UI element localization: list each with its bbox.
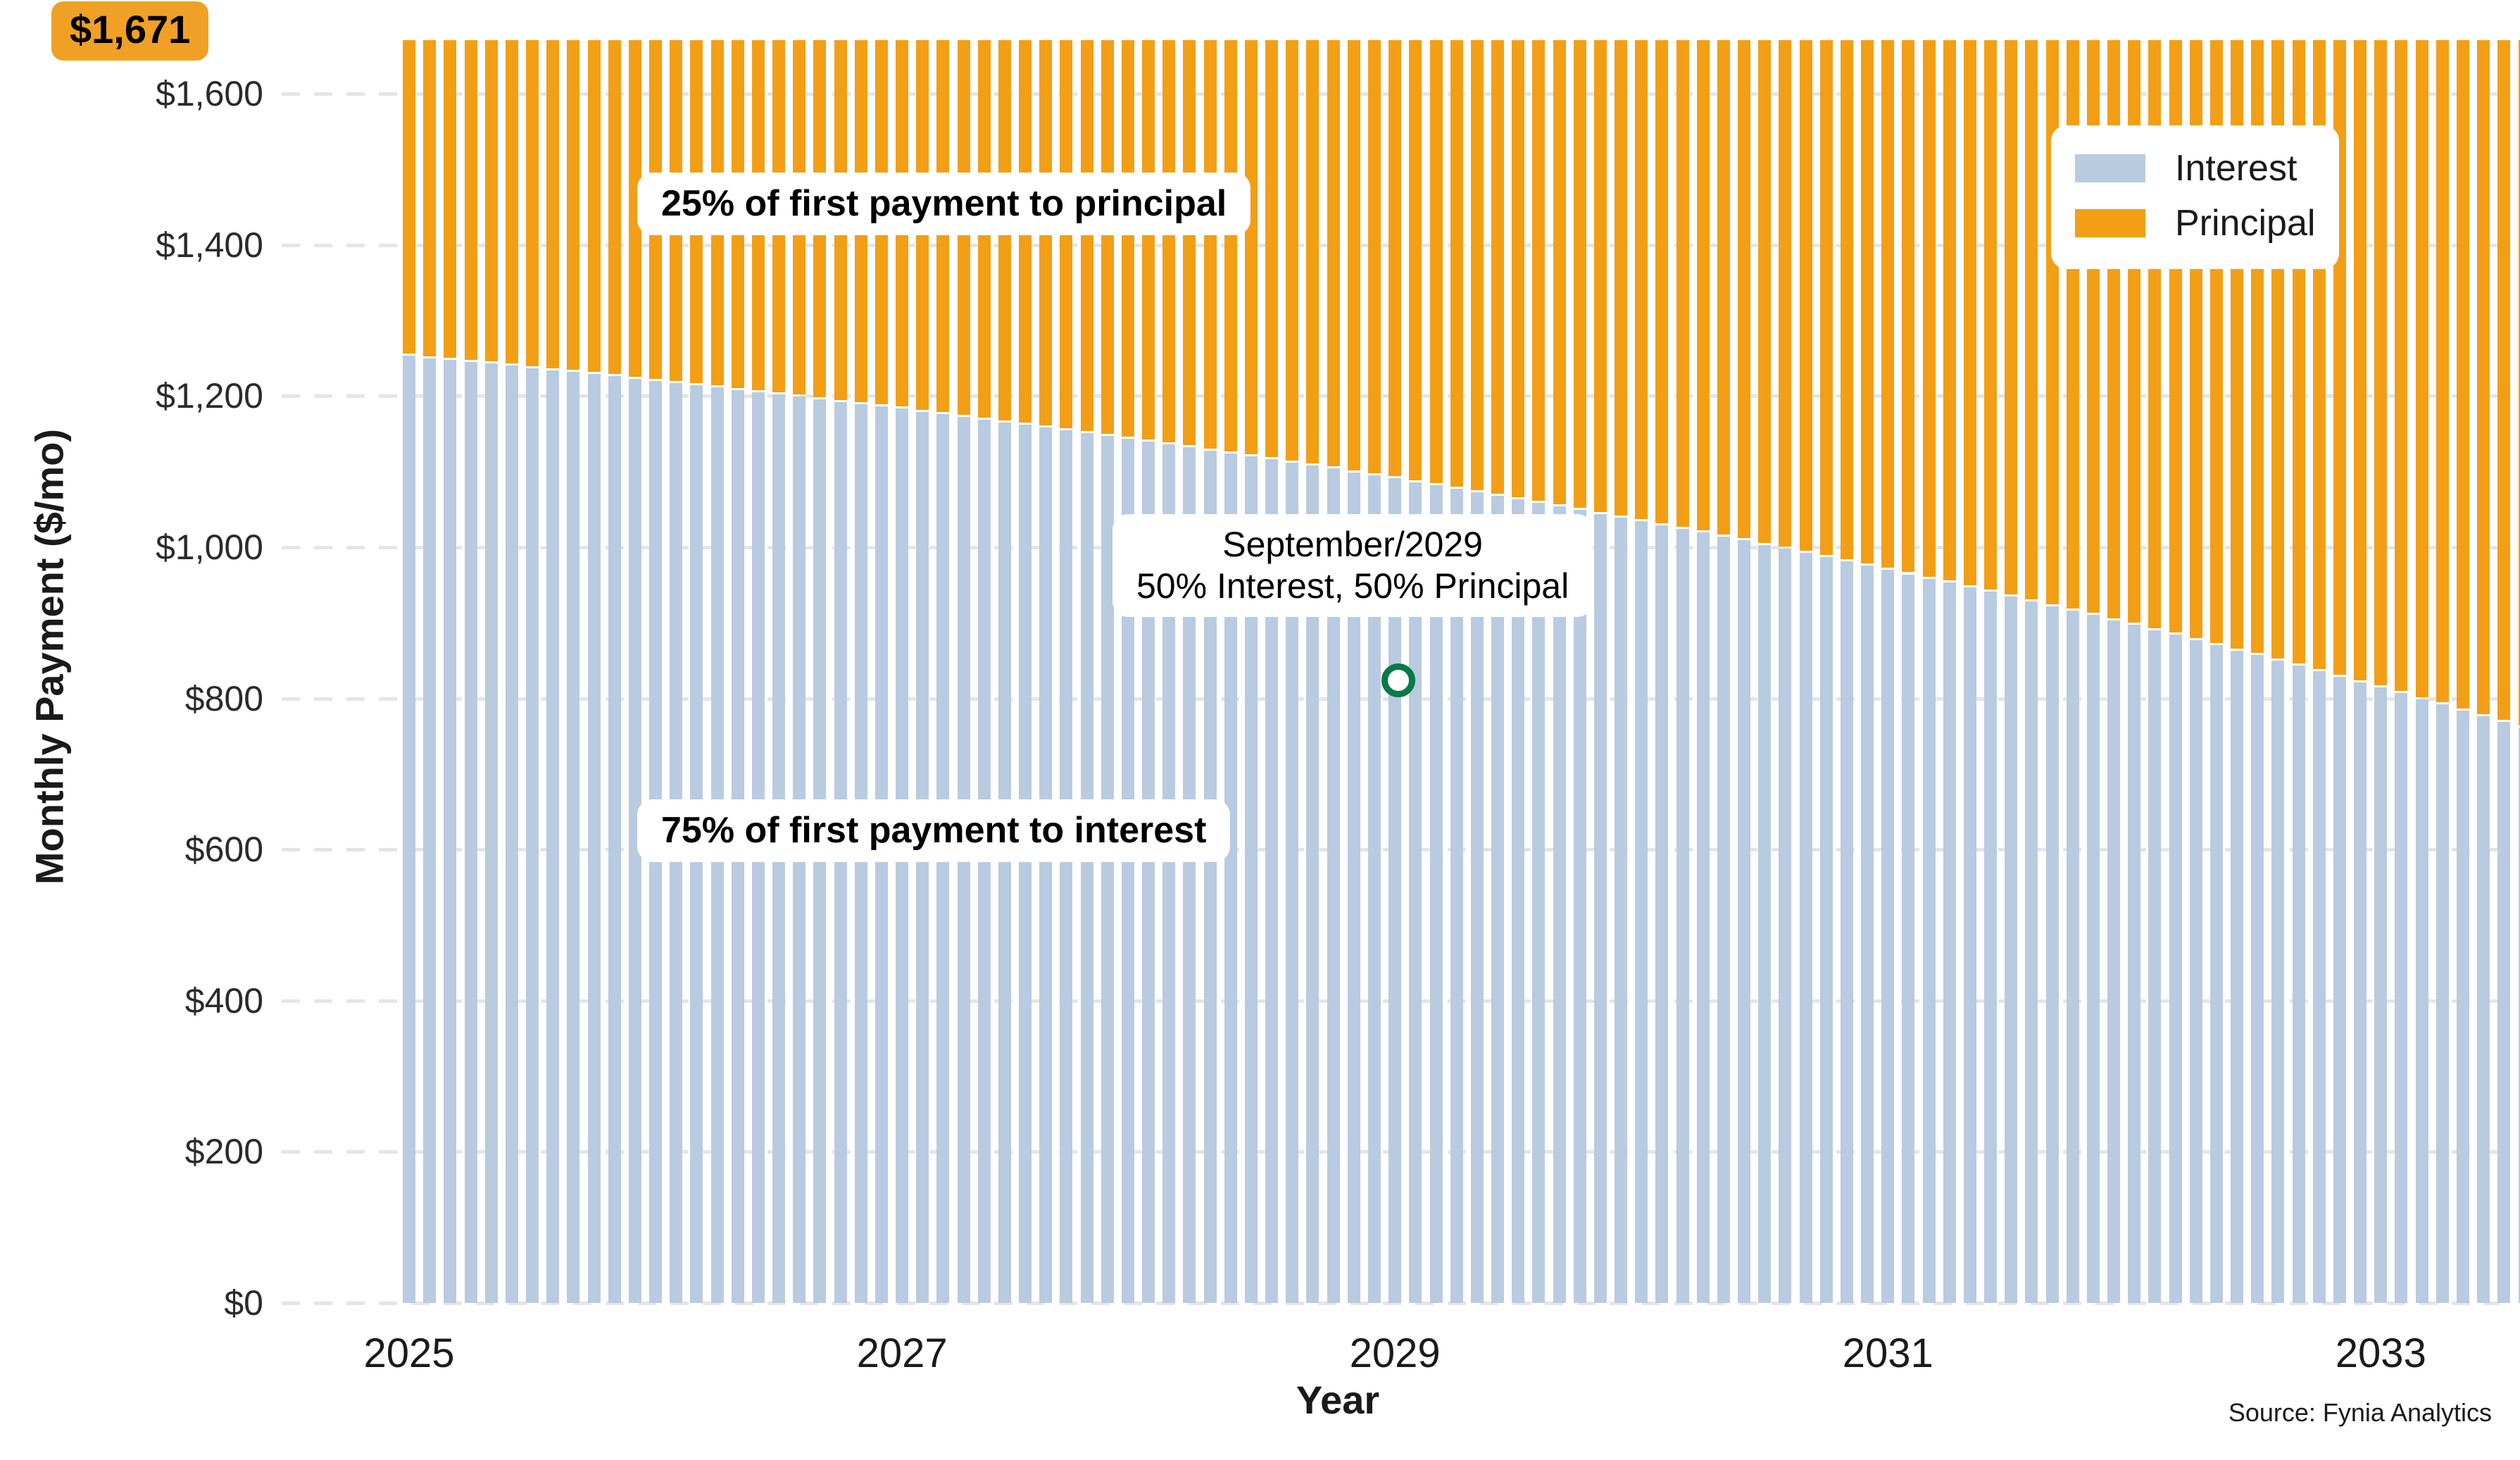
- bar-segment-interest: [1676, 529, 1689, 1303]
- bar-segment-principal: [588, 40, 601, 372]
- bar-segment-interest: [1861, 566, 1874, 1303]
- bar-segment-principal: [1512, 40, 1524, 497]
- bar-segment-interest: [2169, 635, 2182, 1303]
- bar-segment-interest: [2457, 711, 2469, 1303]
- bar-segment-principal: [608, 40, 621, 375]
- bar-segment-interest: [2087, 615, 2100, 1303]
- bar-segment-principal: [2025, 40, 2038, 599]
- bar-segment-principal: [1964, 40, 1976, 585]
- bar-segment-interest: [588, 374, 601, 1303]
- bar-segment-interest: [2190, 640, 2202, 1303]
- bar-segment-principal: [2436, 40, 2449, 702]
- legend-item[interactable]: Interest: [2075, 141, 2315, 196]
- x-tick-label: 2029: [1350, 1330, 1441, 1377]
- bar-segment-principal: [2416, 40, 2428, 697]
- bar-segment-interest: [423, 358, 436, 1303]
- bar-segment-principal: [1820, 40, 1833, 555]
- bar-segment-interest: [2271, 661, 2284, 1303]
- annotation-interest-share: 75% of first payment to interest: [637, 799, 1230, 862]
- legend-item[interactable]: Principal: [2075, 196, 2315, 251]
- chart-canvas: $0$200$400$600$800$1,000$1,200$1,400$1,6…: [0, 0, 2520, 1460]
- bar-segment-interest: [2477, 716, 2490, 1303]
- bar-segment-interest: [998, 423, 1011, 1303]
- bar-segment-principal: [1101, 40, 1114, 434]
- bar-segment-principal: [2477, 40, 2490, 714]
- bar-segment-principal: [1984, 40, 1997, 589]
- bar-segment-interest: [1758, 545, 1771, 1303]
- bar-segment-interest: [567, 372, 579, 1303]
- bar-segment-principal: [403, 40, 415, 354]
- bar-segment-interest: [2128, 625, 2140, 1303]
- bar-segment-principal: [1430, 40, 1443, 483]
- bar-segment-interest: [1574, 510, 1586, 1303]
- bar-segment-principal: [444, 40, 456, 358]
- bar-segment-interest: [1635, 521, 1648, 1303]
- bar-segment-principal: [1881, 40, 1894, 568]
- bar-segment-interest: [506, 366, 518, 1303]
- bar-segment-interest: [2333, 677, 2346, 1303]
- bar-segment-interest: [1881, 570, 1894, 1303]
- bar-segment-interest: [2107, 620, 2120, 1303]
- annotation-crossover-date: September/2029: [1136, 524, 1569, 566]
- bar-segment-principal: [1553, 40, 1566, 504]
- bar-segment-principal: [1491, 40, 1504, 494]
- bar-segment-principal: [1779, 40, 1791, 547]
- bar-segment-interest: [1039, 428, 1052, 1303]
- bar-segment-principal: [485, 40, 498, 361]
- bar-segment-interest: [2374, 687, 2387, 1303]
- bar-segment-principal: [1841, 40, 1853, 559]
- bar-segment-interest: [1943, 582, 1956, 1303]
- bar-segment-principal: [1245, 40, 1258, 454]
- bar-segment-principal: [1081, 40, 1093, 431]
- bar-segment-interest: [1697, 532, 1710, 1303]
- bar-segment-principal: [1122, 40, 1134, 437]
- bar-segment-interest: [1820, 557, 1833, 1303]
- bar-segment-principal: [1615, 40, 1627, 516]
- bar-segment-principal: [1142, 40, 1155, 439]
- bar-segment-interest: [2148, 630, 2161, 1303]
- annotation-crossover-split: 50% Interest, 50% Principal: [1136, 566, 1569, 607]
- bar-segment-interest: [2395, 693, 2407, 1303]
- bar-segment-principal: [1327, 40, 1340, 466]
- bar-segment-principal: [1800, 40, 1812, 551]
- bar-segment-principal: [2354, 40, 2367, 680]
- bar-segment-principal: [1306, 40, 1319, 463]
- bar-segment-principal: [1717, 40, 1730, 535]
- bar-segment-interest: [1081, 433, 1093, 1303]
- bar-segment-interest: [546, 370, 559, 1303]
- bar-segment-interest: [2025, 601, 2038, 1303]
- bar-segment-principal: [1450, 40, 1463, 487]
- bar-segment-interest: [444, 360, 456, 1303]
- bar-segment-principal: [1204, 40, 1217, 449]
- bar-segment-interest: [1060, 430, 1072, 1303]
- x-tick-label: 2025: [363, 1330, 454, 1377]
- bar-segment-interest: [1800, 553, 1812, 1303]
- bar-segment-principal: [526, 40, 539, 366]
- bar-segment-interest: [403, 356, 415, 1303]
- bar-segment-principal: [2395, 40, 2407, 691]
- bar-segment-interest: [2416, 699, 2428, 1303]
- bar-segment-principal: [2046, 40, 2059, 604]
- total-payment-badge: $1,671: [51, 1, 208, 61]
- bar-segment-interest: [608, 376, 621, 1303]
- legend-swatch-interest: [2075, 154, 2145, 182]
- bar-segment-interest: [2005, 597, 2017, 1303]
- bar-segment-interest: [526, 368, 539, 1303]
- bar-segment-interest: [1532, 503, 1545, 1303]
- bar-segment-principal: [1923, 40, 1936, 577]
- bar-segment-interest: [2354, 682, 2367, 1303]
- bar-segment-interest: [485, 363, 498, 1303]
- bar-segment-principal: [465, 40, 477, 360]
- bar-segment-principal: [1183, 40, 1196, 445]
- y-axis-title: Monthly Payment ($/mo): [27, 340, 73, 974]
- bar-segment-interest: [1923, 579, 1936, 1303]
- x-tick-label: 2031: [1843, 1330, 1933, 1377]
- bar-segment-principal: [1471, 40, 1484, 490]
- bar-segment-interest: [2497, 722, 2510, 1303]
- legend-label: Principal: [2175, 202, 2315, 244]
- bar-segment-principal: [1676, 40, 1689, 527]
- bar-segment-interest: [2436, 704, 2449, 1303]
- bar-segment-interest: [2251, 655, 2264, 1303]
- bar-segment-principal: [1943, 40, 1956, 581]
- bar-segment-interest: [1655, 525, 1668, 1303]
- bar-segment-interest: [2210, 645, 2223, 1303]
- bar-segment-principal: [567, 40, 579, 370]
- bar-segment-interest: [2313, 671, 2326, 1303]
- bar-segment-principal: [1635, 40, 1648, 520]
- legend-swatch-principal: [2075, 209, 2145, 237]
- bar-segment-interest: [1553, 506, 1566, 1303]
- bar-segment-interest: [2231, 651, 2243, 1303]
- bar-segment-principal: [1594, 40, 1607, 512]
- bar-segment-principal: [1655, 40, 1668, 523]
- bar-segment-principal: [1697, 40, 1710, 531]
- x-tick-label: 2027: [857, 1330, 948, 1377]
- bar-segment-interest: [1779, 549, 1791, 1303]
- bar-segment-principal: [1224, 40, 1237, 451]
- bar-segment-principal: [1368, 40, 1381, 473]
- bar-segment-principal: [1286, 40, 1298, 461]
- bar-segment-interest: [1594, 514, 1607, 1303]
- annotation-crossover: September/2029 50% Interest, 50% Princip…: [1112, 514, 1593, 617]
- bar-segment-interest: [1019, 425, 1032, 1303]
- bar-segment-principal: [1532, 40, 1545, 501]
- bar-segment-interest: [1902, 575, 1914, 1303]
- bar-segment-principal: [1265, 40, 1278, 458]
- bar-segment-interest: [1615, 518, 1627, 1303]
- legend: InterestPrincipal: [2051, 125, 2339, 269]
- bar-segment-interest: [465, 362, 477, 1303]
- bar-segment-principal: [1902, 40, 1914, 573]
- bar-segment-principal: [1388, 40, 1401, 476]
- bar-segment-interest: [1841, 561, 1853, 1303]
- legend-label: Interest: [2175, 147, 2297, 189]
- bar-segment-principal: [546, 40, 559, 368]
- bar-segment-principal: [1409, 40, 1422, 480]
- bar-segment-interest: [1984, 592, 1997, 1303]
- bar-segment-principal: [2497, 40, 2510, 720]
- bar-segment-principal: [506, 40, 518, 364]
- crossover-marker-icon: [1381, 663, 1415, 697]
- bar-segment-interest: [2293, 666, 2305, 1303]
- bar-segment-principal: [2457, 40, 2469, 709]
- bar-segment-interest: [1512, 499, 1524, 1303]
- bar-segment-principal: [2374, 40, 2387, 686]
- x-tick-label: 2033: [2336, 1330, 2426, 1377]
- bar-segment-principal: [1758, 40, 1771, 543]
- bar-segment-principal: [1348, 40, 1360, 470]
- bar-segment-interest: [1738, 540, 1750, 1303]
- annotation-principal-share: 25% of first payment to principal: [637, 173, 1250, 235]
- bar-segment-interest: [2067, 611, 2079, 1303]
- bar-segment-principal: [1738, 40, 1750, 538]
- bar-segment-principal: [2005, 40, 2017, 594]
- x-axis-title: Year: [1197, 1377, 1479, 1423]
- bar-segment-interest: [1964, 587, 1976, 1303]
- source-caption: Source: Fynia Analytics: [2228, 1398, 2492, 1428]
- bar-segment-interest: [2046, 606, 2059, 1303]
- bar-segment-principal: [1861, 40, 1874, 563]
- bar-segment-principal: [1162, 40, 1175, 442]
- bar-segment-principal: [1574, 40, 1586, 508]
- bar-segment-principal: [423, 40, 436, 356]
- bar-segment-interest: [1717, 537, 1730, 1303]
